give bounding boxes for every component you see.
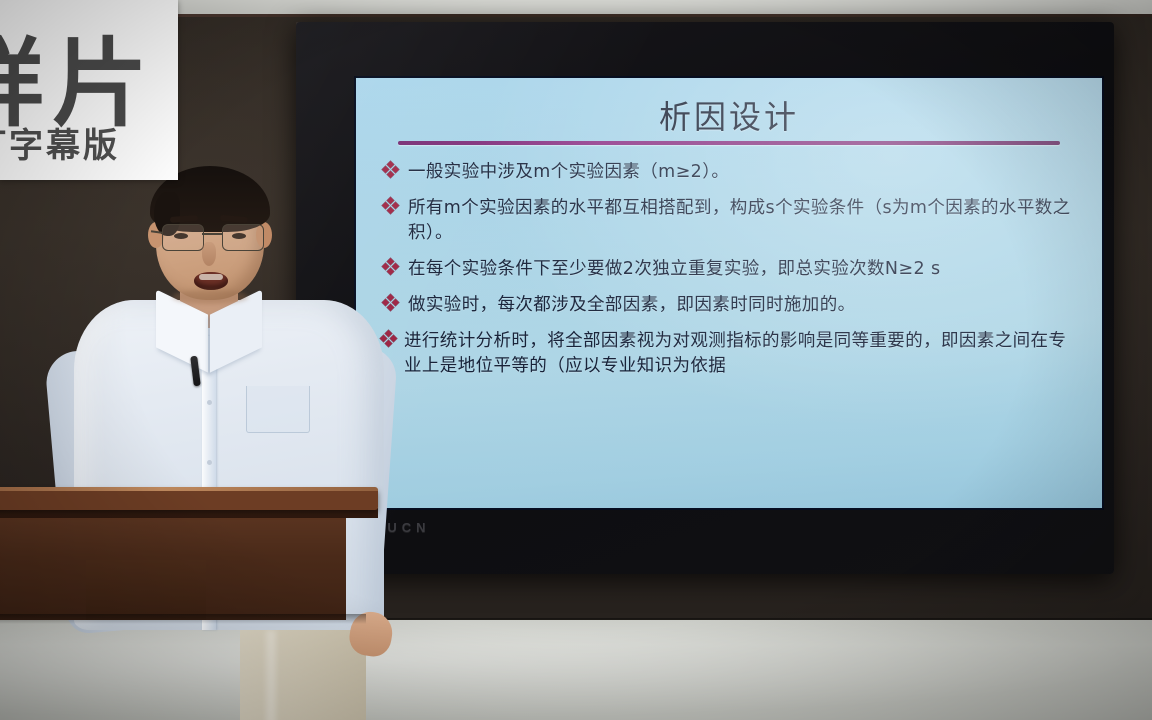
channel-watermark: 祥片 打字幕版 (0, 0, 178, 180)
podium-top-surface (0, 488, 378, 510)
presenter-mouth (194, 272, 228, 290)
podium-floor-shadow (0, 614, 366, 624)
shirt-button (207, 400, 212, 405)
presenter-chin-shadow (172, 290, 248, 304)
slide-title: 析因设计 (356, 92, 1102, 138)
video-frame: 析因设计 一般实验中涉及m个实验因素（m≥2）。 所有m个实验因素的水平都互相搭… (0, 0, 1152, 720)
list-item: 进行统计分析时，将全部因素视为对观测指标的影响是同等重要的，即因素之间在专业上是… (382, 329, 1082, 379)
shirt-pocket (246, 386, 310, 433)
bullet-text: 一般实验中涉及m个实验因素（m≥2）。 (408, 162, 729, 182)
watermark-sub-text: 打字幕版 (0, 118, 120, 167)
bullet-text: 在每个实验条件下至少要做2次独立重复实验，即总实验次数N≥2 s (408, 259, 941, 279)
list-item: 所有m个实验因素的水平都互相搭配到，构成s个实验条件（s为m个因素的水平数之积）… (382, 196, 1082, 246)
shirt-button (207, 460, 212, 465)
bullet-text: 所有m个实验因素的水平都互相搭配到，构成s个实验条件（s为m个因素的水平数之积）… (408, 198, 1071, 243)
bullet-text: 进行统计分析时，将全部因素视为对观测指标的影响是同等重要的，即因素之间在专业上是… (404, 331, 1066, 376)
lower-wall (0, 620, 1152, 720)
title-underline-rule (398, 141, 1060, 145)
bullet-text: 做实验时，每次都涉及全部因素，即因素时同时施加的。 (408, 295, 856, 315)
podium-top-highlight (0, 487, 378, 491)
podium-column (86, 560, 206, 620)
list-item: 在每个实验条件下至少要做2次独立重复实验，即总实验次数N≥2 s (382, 257, 1082, 282)
slide-bullet-list: 一般实验中涉及m个实验因素（m≥2）。 所有m个实验因素的水平都互相搭配到，构成… (382, 160, 1082, 390)
slide-content: 析因设计 一般实验中涉及m个实验因素（m≥2）。 所有m个实验因素的水平都互相搭… (356, 78, 1102, 508)
list-item: 一般实验中涉及m个实验因素（m≥2）。 (382, 160, 1082, 185)
presenter-trousers (240, 620, 366, 720)
presenter-nose (202, 242, 216, 266)
list-item: 做实验时，每次都涉及全部因素，即因素时同时施加的。 (382, 293, 1082, 318)
